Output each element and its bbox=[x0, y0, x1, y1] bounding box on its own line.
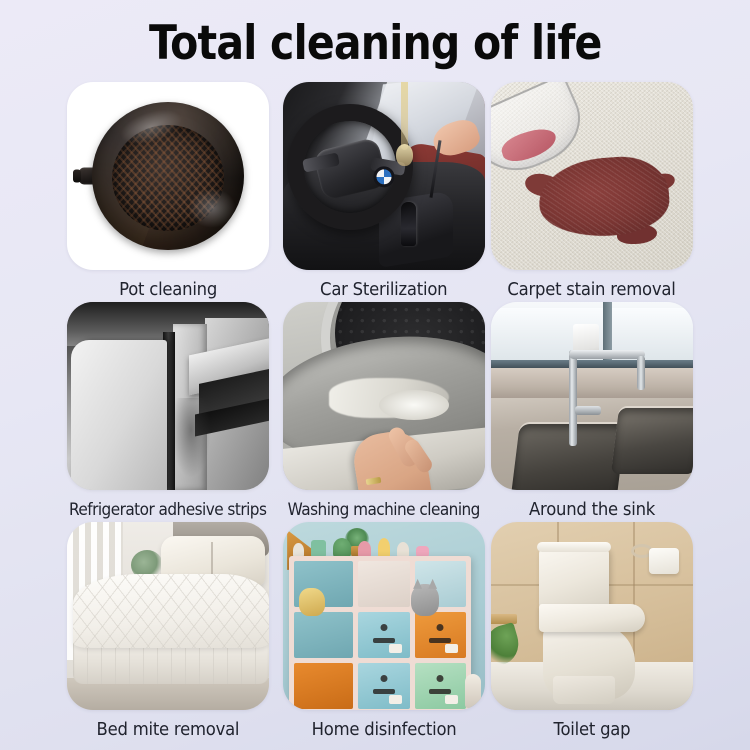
shelf-toy-yellow-shape bbox=[378, 538, 390, 558]
shelf-bin-label-tag bbox=[389, 695, 402, 704]
sink-basin-right-shape bbox=[611, 408, 693, 474]
shelf-bin-handle-icon bbox=[373, 638, 395, 643]
scene-car-interior bbox=[283, 82, 485, 270]
shelf-bin-handle-icon bbox=[429, 689, 451, 694]
shelf-bin-green bbox=[415, 663, 466, 709]
shelf-bin-knob-icon bbox=[380, 624, 387, 631]
sink-faucet-spout-shape bbox=[569, 350, 645, 359]
mattress-top-shape bbox=[73, 574, 269, 648]
caption-refrigerator-adhesive-strips: Refrigerator adhesive strips bbox=[69, 501, 266, 520]
image-card-refrigerator-adhesive-strips[interactable] bbox=[67, 302, 269, 490]
image-card-bed-mite-removal[interactable] bbox=[67, 522, 269, 710]
scene-mattress bbox=[67, 522, 269, 710]
scene-refrigerator-seal bbox=[67, 302, 269, 490]
sink-faucet-column-shape bbox=[569, 350, 577, 446]
fridge-grime-shape bbox=[171, 398, 211, 478]
scene-washing-machine bbox=[283, 302, 485, 490]
sink-faucet-handle-shape bbox=[575, 406, 601, 415]
shelf-bin-knob-icon bbox=[380, 675, 387, 682]
shelf-toy-plant-shape bbox=[333, 538, 351, 558]
shelf-cubby-2 bbox=[358, 561, 409, 607]
shelf-plush-dinosaur-shape bbox=[299, 588, 325, 616]
toilet-tank-lid-shape bbox=[537, 542, 611, 552]
shelf-floor-object-shape bbox=[465, 674, 481, 708]
caption-toilet-gap: Toilet gap bbox=[553, 721, 630, 740]
pot-highlight-secondary-shape bbox=[188, 188, 236, 228]
grid-item-pot-cleaning[interactable]: Pot cleaning bbox=[58, 82, 277, 302]
shelf-bin-knob-icon bbox=[437, 624, 444, 631]
caption-home-disinfection: Home disinfection bbox=[312, 721, 457, 740]
shelf-bin-label-tag bbox=[445, 644, 458, 653]
shelf-bin-handle-icon bbox=[429, 638, 451, 643]
image-card-car-sterilization[interactable] bbox=[283, 82, 485, 270]
caption-pot-cleaning: Pot cleaning bbox=[119, 281, 217, 300]
caption-bed-mite-removal: Bed mite removal bbox=[96, 721, 239, 740]
image-card-around-the-sink[interactable] bbox=[491, 302, 693, 490]
sink-window-sill-shape bbox=[491, 368, 693, 400]
shelf-unit-shape bbox=[289, 556, 471, 710]
image-card-toilet-gap[interactable] bbox=[491, 522, 693, 710]
caption-carpet-stain-removal: Carpet stain removal bbox=[508, 281, 676, 300]
image-card-washing-machine-cleaning[interactable] bbox=[283, 302, 485, 490]
fridge-door-shape bbox=[71, 340, 167, 490]
car-air-freshener-shape bbox=[401, 82, 408, 150]
caption-around-the-sink: Around the sink bbox=[529, 501, 655, 520]
shelf-bin-orange bbox=[415, 612, 466, 658]
shelf-cubby-4 bbox=[294, 612, 353, 658]
sink-basin-left-shape bbox=[510, 424, 626, 490]
image-card-pot-cleaning[interactable] bbox=[67, 82, 269, 270]
bathroom-wall-shelf-shape bbox=[491, 614, 517, 624]
promo-page: Total cleaning of life Pot cleaning bbox=[0, 0, 750, 750]
caption-car-sterilization: Car Sterilization bbox=[320, 281, 447, 300]
shelf-plush-cat-shape bbox=[411, 584, 439, 616]
washer-mold-residue-secondary-shape bbox=[379, 390, 449, 420]
grid-item-home-disinfection[interactable]: Home disinfection bbox=[277, 522, 491, 742]
shelf-top-decor-row bbox=[293, 536, 467, 558]
shelf-bin-handle-icon bbox=[373, 689, 395, 694]
shelf-bin-blue-2 bbox=[358, 663, 409, 709]
toilet-tank-shape bbox=[539, 546, 609, 608]
grid-item-washing-machine-cleaning[interactable]: Washing machine cleaning bbox=[277, 302, 491, 522]
scene-kids-shelf bbox=[283, 522, 485, 710]
grid-item-car-sterilization[interactable]: Car Sterilization bbox=[277, 82, 491, 302]
shelf-cubby-orange-open bbox=[294, 663, 353, 709]
grid-item-around-the-sink[interactable]: Around the sink bbox=[491, 302, 693, 522]
caption-washing-machine-cleaning: Washing machine cleaning bbox=[288, 501, 480, 520]
grid-item-bed-mite-removal[interactable]: Bed mite removal bbox=[58, 522, 277, 742]
page-title: Total cleaning of life bbox=[149, 19, 602, 69]
toilet-base-shape bbox=[553, 676, 615, 704]
shelf-bin-knob-icon bbox=[437, 675, 444, 682]
grid-item-toilet-gap[interactable]: Toilet gap bbox=[491, 522, 693, 742]
scene-toilet bbox=[491, 522, 693, 710]
shelf-bin-label-tag bbox=[389, 644, 402, 653]
scene-carpet-stain bbox=[491, 82, 693, 270]
car-gear-shifter-shape bbox=[401, 202, 416, 246]
grid-item-refrigerator-adhesive-strips[interactable]: Refrigerator adhesive strips bbox=[58, 302, 277, 522]
image-card-carpet-stain-removal[interactable] bbox=[491, 82, 693, 270]
bathroom-tile-seam-2 bbox=[633, 522, 635, 664]
feature-grid: Pot cleaning bbox=[0, 82, 750, 742]
toilet-seat-shape bbox=[539, 604, 645, 632]
car-emblem-icon bbox=[374, 166, 395, 187]
image-card-home-disinfection[interactable] bbox=[283, 522, 485, 710]
scene-burnt-pot bbox=[67, 82, 269, 270]
shelf-bin-label-tag bbox=[445, 695, 458, 704]
grid-item-carpet-stain-removal[interactable]: Carpet stain removal bbox=[491, 82, 693, 302]
toilet-paper-roll-shape bbox=[649, 548, 679, 574]
shelf-bin-blue bbox=[358, 612, 409, 658]
scene-kitchen-sink bbox=[491, 302, 693, 490]
